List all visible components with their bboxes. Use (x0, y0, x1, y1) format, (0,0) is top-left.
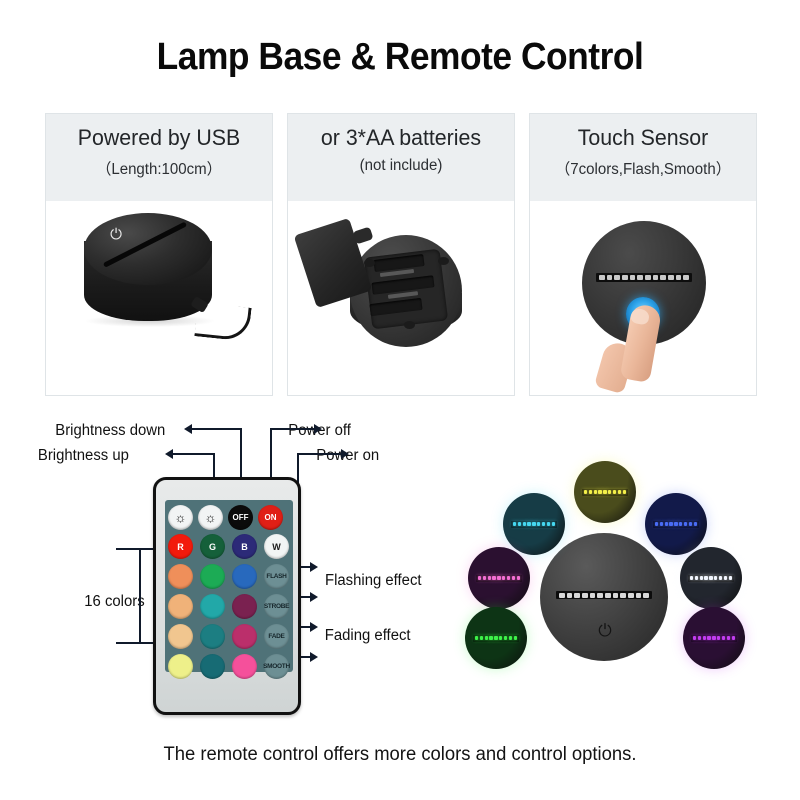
leader-line (297, 453, 343, 455)
power-off-button[interactable]: OFF (228, 505, 253, 530)
panel-header: Touch Sensor （7colors,Flash,Smooth） (530, 114, 756, 201)
remote-control[interactable]: ☼ ☼ OFF ON RGBWFLASHSTROBEFADESMOOTH (153, 477, 301, 715)
effect-button-flash[interactable]: FLASH (264, 564, 289, 589)
power-icon: ⏻ (596, 621, 614, 641)
lamp-color-purple (683, 607, 745, 669)
arrow-power-off (314, 424, 322, 434)
panel-title: or 3*AA batteries (295, 124, 506, 152)
panel-subtitle: （Length:100cm） (53, 157, 264, 179)
rubber-foot (404, 321, 415, 329)
color-button-7[interactable] (232, 564, 257, 589)
leader-line (270, 428, 316, 430)
feature-panels: Powered by USB （Length:100cm） ⏻ or 3*AA … (45, 113, 757, 396)
color-button-11[interactable] (232, 594, 257, 619)
arrow-flash (310, 562, 318, 572)
led-strip (582, 489, 628, 496)
color-button-w[interactable]: W (264, 534, 289, 559)
led-strip (473, 635, 519, 642)
effect-button-smooth[interactable]: SMOOTH (264, 654, 289, 679)
remote-control-section: Brightness down Brightness up Power off … (0, 415, 800, 725)
lamp-color-white (680, 547, 742, 609)
lamp-color-pink (468, 547, 530, 609)
color-button-g[interactable]: G (200, 534, 225, 559)
arrow-brightness-down (184, 424, 192, 434)
panel-title: Touch Sensor (537, 124, 748, 152)
led-strip (691, 635, 737, 642)
color-button-b[interactable]: B (232, 534, 257, 559)
arrow-strobe (310, 592, 318, 602)
brightness-up-button[interactable]: ☼ (168, 505, 193, 530)
usb-cable (194, 302, 251, 341)
panel-header: or 3*AA batteries (not include) (288, 114, 514, 201)
panel-powered-by-usb: Powered by USB （Length:100cm） ⏻ (45, 113, 273, 396)
callout-16-colors: 16 colors (84, 593, 144, 611)
panel-header: Powered by USB （Length:100cm） (46, 114, 272, 201)
brightness-down-button[interactable]: ☼ (198, 505, 223, 530)
color-button-19[interactable] (232, 654, 257, 679)
power-on-button[interactable]: ON (258, 505, 283, 530)
leader-line (116, 642, 144, 644)
rubber-foot (364, 259, 375, 267)
lamp-color-demo: ⏻ (455, 455, 785, 705)
led-strip (511, 521, 557, 528)
lamp-color-blue (645, 493, 707, 555)
panel-subtitle: (not include) (295, 157, 506, 175)
usb-lamp-base-photo: ⏻ (46, 201, 272, 395)
leader-line (192, 428, 242, 430)
led-strip (688, 575, 734, 582)
lamp-color-cyan (503, 493, 565, 555)
color-button-18[interactable] (200, 654, 225, 679)
battery-compartment-photo (288, 201, 514, 395)
led-strip (556, 591, 652, 599)
color-button-5[interactable] (168, 564, 193, 589)
effect-button-fade[interactable]: FADE (264, 624, 289, 649)
panel-subtitle: （7colors,Flash,Smooth） (537, 157, 748, 179)
rubber-foot (438, 257, 449, 265)
color-button-9[interactable] (168, 594, 193, 619)
effect-button-strobe[interactable]: STROBE (264, 594, 289, 619)
lamp-color-green (465, 607, 527, 669)
color-button-r[interactable]: R (168, 534, 193, 559)
touch-sensor-photo (530, 201, 756, 395)
arrow-smooth (310, 652, 318, 662)
leader-line (116, 548, 144, 550)
page-title: Lamp Base & Remote Control (28, 36, 772, 79)
callout-flashing-effect: Flashing effect (325, 572, 422, 590)
lamp-base-main: ⏻ (540, 533, 668, 661)
callout-brightness-up: Brightness up (38, 447, 129, 465)
panel-title: Powered by USB (53, 124, 264, 152)
led-strip (653, 521, 699, 528)
color-button-grid: RGBWFLASHSTROBEFADESMOOTH (168, 534, 290, 679)
arrow-brightness-up (165, 449, 173, 459)
callout-fading-effect: Fading effect (325, 627, 411, 645)
arrow-power-on (341, 449, 349, 459)
arrow-fade (310, 622, 318, 632)
color-button-14[interactable] (200, 624, 225, 649)
lamp-color-yellow (574, 461, 636, 523)
power-icon: ⏻ (108, 227, 124, 243)
lamp-base-top (84, 213, 212, 285)
panel-touch-sensor: Touch Sensor （7colors,Flash,Smooth） (529, 113, 757, 396)
remote-top-row: ☼ ☼ OFF ON (168, 504, 290, 530)
leader-line (173, 453, 215, 455)
color-button-17[interactable] (168, 654, 193, 679)
color-button-6[interactable] (200, 564, 225, 589)
led-strip (476, 575, 522, 582)
color-button-13[interactable] (168, 624, 193, 649)
bottom-caption: The remote control offers more colors an… (12, 744, 788, 766)
panel-aa-batteries: or 3*AA batteries (not include) (287, 113, 515, 396)
callout-brightness-down: Brightness down (55, 422, 165, 440)
led-strip (596, 273, 692, 282)
color-button-15[interactable] (232, 624, 257, 649)
color-button-10[interactable] (200, 594, 225, 619)
